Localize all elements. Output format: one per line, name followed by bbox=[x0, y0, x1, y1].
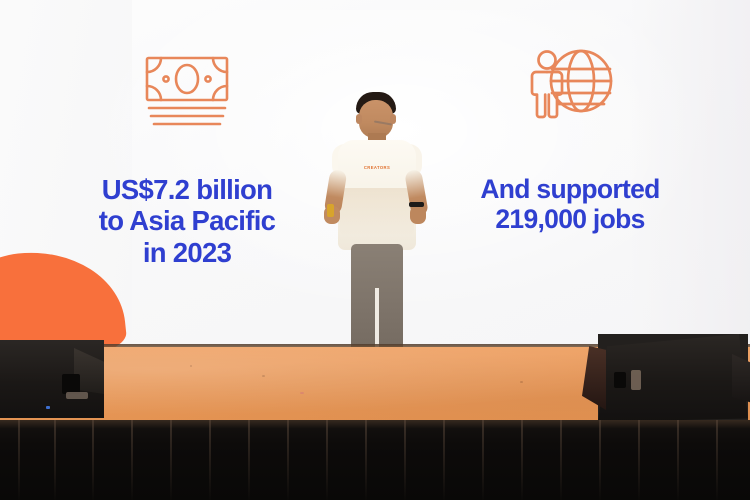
skirt-pleat bbox=[560, 420, 562, 500]
skirt-pleat bbox=[92, 420, 94, 500]
floor-speck bbox=[520, 381, 523, 383]
skirt-pleat bbox=[716, 420, 718, 500]
skirt-pleat bbox=[443, 420, 445, 500]
slide-column-left: US$7.2 billion to Asia Pacific in 2023 bbox=[46, 50, 328, 268]
floor-speck bbox=[262, 375, 265, 377]
monitor-handle bbox=[62, 374, 80, 394]
floor-speck bbox=[300, 392, 304, 394]
stage-monitor-right bbox=[598, 334, 748, 422]
slide-column-right: And supported 219,000 jobs bbox=[420, 42, 720, 234]
monitor-handle bbox=[614, 372, 626, 388]
skirt-pleat bbox=[326, 420, 328, 500]
skirt-pleat bbox=[54, 420, 56, 500]
presenter-ear-left bbox=[356, 114, 362, 124]
person-globe-icon bbox=[420, 42, 720, 120]
skirt-pleat bbox=[404, 420, 406, 500]
skirt-pleat bbox=[521, 420, 523, 500]
stage-monitor-left bbox=[0, 340, 104, 418]
skirt-pleat bbox=[638, 420, 640, 500]
skirt-pleat bbox=[365, 420, 367, 500]
slide-headline-right: And supported 219,000 jobs bbox=[420, 174, 720, 234]
skirt-pleat bbox=[599, 420, 601, 500]
presenter-shirt-shading bbox=[340, 188, 414, 236]
monitor-power-led bbox=[46, 406, 50, 409]
skirt-pleat bbox=[170, 420, 172, 500]
banknote-icon bbox=[46, 50, 328, 128]
skirt-pleat bbox=[18, 420, 20, 500]
skirt-pleat bbox=[482, 420, 484, 500]
monitor-badge bbox=[66, 392, 88, 399]
skirt-pleat bbox=[209, 420, 211, 500]
monitor-rear-wedge bbox=[732, 354, 750, 404]
stage-presentation-photo: US$7.2 billion to Asia Pacific in 2023 bbox=[0, 0, 750, 500]
skirt-pleat bbox=[248, 420, 250, 500]
presenter-wristwatch bbox=[409, 202, 424, 207]
skirt-pleat bbox=[287, 420, 289, 500]
presenter-shirt-text: CREATORS bbox=[348, 165, 406, 170]
slide-headline-left: US$7.2 billion to Asia Pacific in 2023 bbox=[46, 174, 328, 268]
presentation-clicker bbox=[327, 204, 334, 217]
skirt-pleat bbox=[131, 420, 133, 500]
monitor-badge bbox=[631, 370, 641, 390]
presenter-hand-right bbox=[410, 206, 426, 224]
stage-skirt bbox=[0, 420, 750, 500]
skirt-pleat bbox=[677, 420, 679, 500]
floor-speck bbox=[190, 365, 192, 367]
